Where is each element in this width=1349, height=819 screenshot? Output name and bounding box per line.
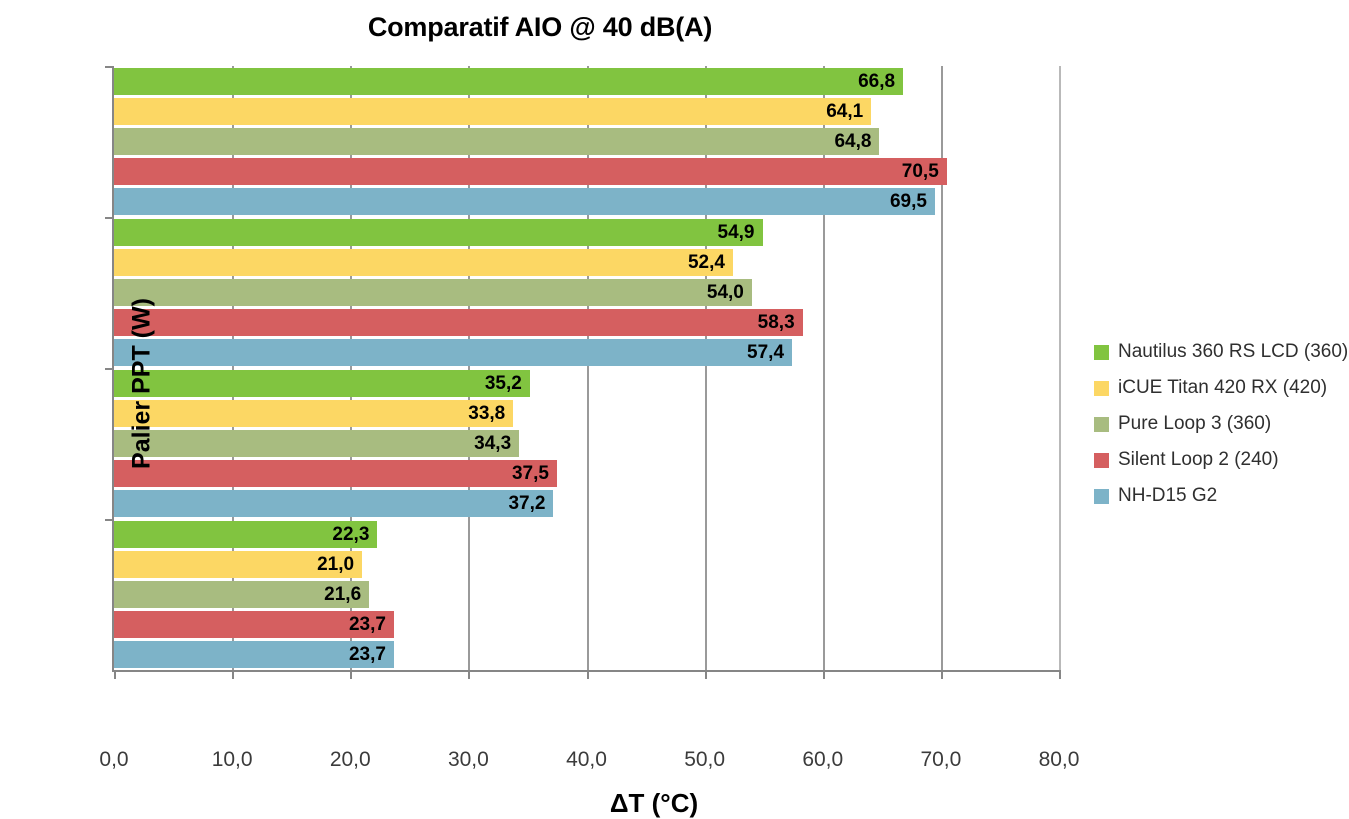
x-axis-tick-label: 60,0 [802,748,843,772]
bar-value-label: 21,6 [305,584,361,606]
bar-value-label: 52,4 [669,252,725,274]
x-axis-tick [232,670,234,679]
bar-row: 37,5 [114,460,1059,487]
bar-row: 64,8 [114,128,1059,155]
legend-item[interactable]: iCUE Titan 420 RX (420) [1094,370,1344,406]
legend-label: Nautilus 360 RS LCD (360) [1118,341,1348,363]
bar-value-label: 37,2 [489,493,545,515]
x-axis-tick-label: 80,0 [1039,748,1080,772]
bar-row: 23,7 [114,611,1059,638]
bar-row: 57,4 [114,339,1059,366]
legend-item[interactable]: Nautilus 360 RS LCD (360) [1094,334,1344,370]
bar-row: 35,2 [114,370,1059,397]
bar-row: 66,8 [114,68,1059,95]
legend-swatch-icon [1094,345,1109,360]
bar-value-label: 23,7 [330,644,386,666]
bar-row: 34,3 [114,430,1059,457]
x-axis-tick [114,670,116,679]
bar[interactable] [114,219,763,246]
bar-value-label: 54,0 [688,282,744,304]
bar-group: 54,952,454,058,357,4 [114,217,1059,368]
bar-row: 70,5 [114,158,1059,185]
y-axis-tick [105,368,114,370]
legend-label: Pure Loop 3 (360) [1118,413,1271,435]
legend-item[interactable]: Silent Loop 2 (240) [1094,442,1344,478]
bar[interactable] [114,128,879,155]
x-axis-tick-label: 70,0 [920,748,961,772]
x-axis-tick [941,670,943,679]
bar[interactable] [114,98,871,125]
bar-row: 54,9 [114,219,1059,246]
bar-row: 21,0 [114,551,1059,578]
bar-row: 64,1 [114,98,1059,125]
bar[interactable] [114,68,903,95]
bar[interactable] [114,249,733,276]
bar[interactable] [114,490,553,517]
bar-value-label: 57,4 [728,342,784,364]
bar-row: 37,2 [114,490,1059,517]
legend-label: NH-D15 G2 [1118,485,1217,507]
bar-value-label: 58,3 [739,312,795,334]
x-axis-tick-label: 0,0 [99,748,128,772]
bar-value-label: 54,9 [699,222,755,244]
bar-group: 22,321,021,623,723,7 [114,519,1059,670]
x-axis-tick-label: 50,0 [684,748,725,772]
x-axis-title: ΔT (°C) [114,788,1194,819]
x-axis-tick [350,670,352,679]
y-axis-tick [105,217,114,219]
bar-row: 69,5 [114,188,1059,215]
bar[interactable] [114,309,803,336]
x-axis-tick [823,670,825,679]
legend-item[interactable]: Pure Loop 3 (360) [1094,406,1344,442]
bar-value-label: 22,3 [313,524,369,546]
bar-value-label: 64,8 [815,131,871,153]
bar[interactable] [114,279,752,306]
bar-row: 33,8 [114,400,1059,427]
chart-legend: Nautilus 360 RS LCD (360)iCUE Titan 420 … [1094,334,1344,514]
plot-area: 66,864,164,870,569,554,952,454,058,357,4… [112,66,1059,672]
bar-value-label: 66,8 [839,71,895,93]
y-axis-tick [105,519,114,521]
bar-row: 22,3 [114,521,1059,548]
legend-swatch-icon [1094,417,1109,432]
bar-row: 23,7 [114,641,1059,668]
gridline [1059,66,1061,670]
bar[interactable] [114,460,557,487]
x-axis-tick-label: 10,0 [212,748,253,772]
bar-value-label: 34,3 [455,433,511,455]
x-axis-tick [705,670,707,679]
x-axis-tick-label: 20,0 [330,748,371,772]
legend-label: iCUE Titan 420 RX (420) [1118,377,1327,399]
legend-label: Silent Loop 2 (240) [1118,449,1279,471]
bar[interactable] [114,188,935,215]
x-axis-tick [468,670,470,679]
bar-row: 52,4 [114,249,1059,276]
y-axis-title: Palier PPT (W) [128,104,157,664]
y-axis-tick [105,66,114,68]
bar-value-label: 33,8 [449,403,505,425]
x-axis-tick-label: 30,0 [448,748,489,772]
bar-group: 66,864,164,870,569,5 [114,66,1059,217]
bar-value-label: 70,5 [883,161,939,183]
legend-item[interactable]: NH-D15 G2 [1094,478,1344,514]
bar-group: 35,233,834,337,537,2 [114,368,1059,519]
x-axis-tick-label: 40,0 [566,748,607,772]
bar[interactable] [114,339,792,366]
bar-value-label: 37,5 [493,463,549,485]
bar-value-label: 35,2 [466,373,522,395]
x-axis-tick [1059,670,1061,679]
bar-value-label: 23,7 [330,614,386,636]
legend-swatch-icon [1094,489,1109,504]
bar-row: 21,6 [114,581,1059,608]
legend-swatch-icon [1094,453,1109,468]
bar-value-label: 64,1 [807,101,863,123]
chart-title: Comparatif AIO @ 40 dB(A) [0,12,1080,43]
bar[interactable] [114,158,947,185]
x-axis-tick [587,670,589,679]
bar-value-label: 21,0 [298,554,354,576]
bar-row: 54,0 [114,279,1059,306]
bar-value-label: 69,5 [871,191,927,213]
legend-swatch-icon [1094,381,1109,396]
bar-row: 58,3 [114,309,1059,336]
